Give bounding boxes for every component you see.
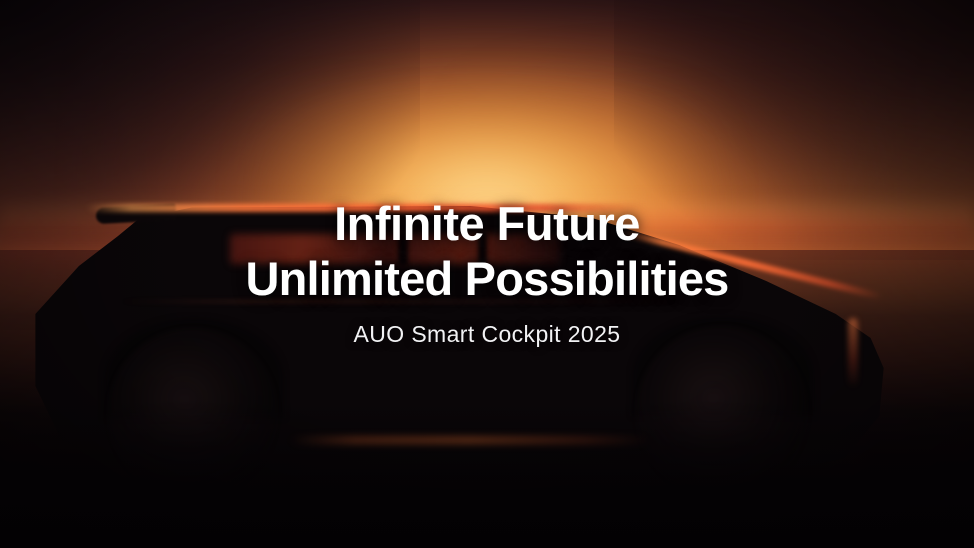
headline-line-1: Infinite Future [334,196,640,251]
subtitle: AUO Smart Cockpit 2025 [353,320,620,348]
teaser-key-visual: Infinite Future Unlimited Possibilities … [0,0,974,548]
title-overlay: Infinite Future Unlimited Possibilities … [0,0,974,548]
headline-line-2: Unlimited Possibilities [245,251,728,306]
